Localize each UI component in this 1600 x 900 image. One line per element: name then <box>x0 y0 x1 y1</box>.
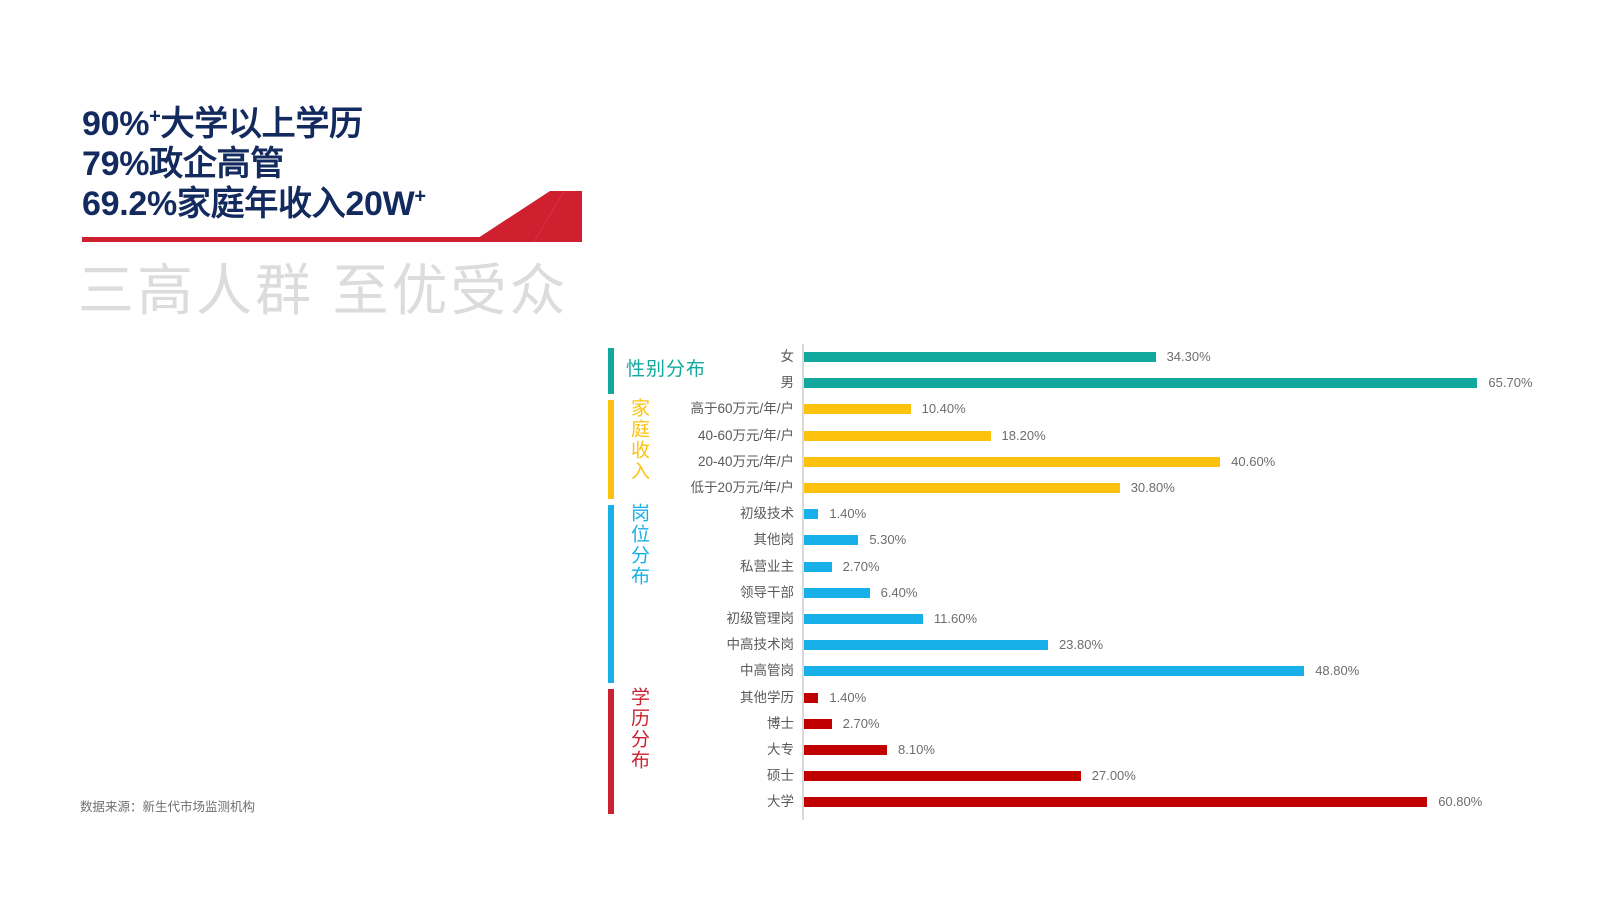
headline-line-2: 79%政企高管 <box>82 144 602 184</box>
demographics-bar-chart: 性别分布女34.30%男65.70%家庭收入高于60万元/年/户10.40%40… <box>608 344 1588 820</box>
row-category-label: 其他岗 <box>608 527 794 553</box>
row-value-label: 1.40% <box>829 501 866 527</box>
row-bar <box>804 457 1220 467</box>
row-value-label: 10.40% <box>922 396 966 422</box>
row-value-label: 23.80% <box>1059 632 1103 658</box>
chart-row: 初级管理岗11.60% <box>608 606 1588 632</box>
row-value-label: 6.40% <box>881 580 918 606</box>
row-bar <box>804 640 1048 650</box>
watermark-subtitle: 三高人群 至优受众 <box>78 256 569 326</box>
row-category-label: 领导干部 <box>608 580 794 606</box>
row-category-label: 初级管理岗 <box>608 606 794 632</box>
chart-row: 大专8.10% <box>608 737 1588 763</box>
row-category-label: 大学 <box>608 789 794 815</box>
row-value-label: 2.70% <box>843 711 880 737</box>
row-category-label: 硕士 <box>608 763 794 789</box>
row-category-label: 中高技术岗 <box>608 632 794 658</box>
headline-1-main: 90% <box>82 105 149 143</box>
row-category-label: 博士 <box>608 711 794 737</box>
headline-1-tail: 大学以上学历 <box>161 105 363 143</box>
row-bar <box>804 588 870 598</box>
chart-row: 女34.30% <box>608 344 1588 370</box>
row-bar <box>804 535 858 545</box>
row-value-label: 11.60% <box>934 606 977 632</box>
row-value-label: 40.60% <box>1231 449 1275 475</box>
row-bar <box>804 745 887 755</box>
chart-row: 私营业主2.70% <box>608 554 1588 580</box>
row-category-label: 其他学历 <box>608 685 794 711</box>
row-value-label: 60.80% <box>1438 789 1482 815</box>
data-source-note: 数据来源：新生代市场监测机构 <box>80 796 255 815</box>
row-value-label: 34.30% <box>1167 344 1211 370</box>
red-flag-shape <box>472 191 582 242</box>
chart-row: 博士2.70% <box>608 711 1588 737</box>
row-value-label: 27.00% <box>1092 763 1136 789</box>
row-value-label: 48.80% <box>1315 658 1359 684</box>
chart-row: 低于20万元/年/户30.80% <box>608 475 1588 501</box>
row-category-label: 20-40万元/年/户 <box>608 449 794 475</box>
row-bar <box>804 771 1081 781</box>
row-category-label: 高于60万元/年/户 <box>608 396 794 422</box>
headline-1-sup: + <box>149 106 160 128</box>
row-value-label: 65.70% <box>1488 370 1532 396</box>
chart-row: 中高管岗48.80% <box>608 658 1588 684</box>
chart-row: 大学60.80% <box>608 789 1588 815</box>
headline-3-tail: 家庭年收入20W <box>177 185 415 223</box>
row-bar <box>804 404 911 414</box>
row-bar <box>804 483 1120 493</box>
row-value-label: 18.20% <box>1002 423 1046 449</box>
row-bar <box>804 693 818 703</box>
headline-2-main: 79% <box>82 145 149 183</box>
chart-row: 中高技术岗23.80% <box>608 632 1588 658</box>
row-category-label: 女 <box>608 344 794 370</box>
row-category-label: 私营业主 <box>608 554 794 580</box>
chart-row: 其他岗5.30% <box>608 527 1588 553</box>
row-category-label: 40-60万元/年/户 <box>608 423 794 449</box>
chart-row: 男65.70% <box>608 370 1588 396</box>
chart-row: 20-40万元/年/户40.60% <box>608 449 1588 475</box>
row-bar <box>804 509 818 519</box>
headline-underline-group <box>82 228 582 254</box>
row-category-label: 大专 <box>608 737 794 763</box>
row-category-label: 男 <box>608 370 794 396</box>
row-bar <box>804 614 923 624</box>
row-value-label: 5.30% <box>869 527 906 553</box>
headline-line-1: 90%+大学以上学历 <box>82 104 602 144</box>
row-bar <box>804 431 991 441</box>
chart-row: 硕士27.00% <box>608 763 1588 789</box>
row-bar <box>804 719 832 729</box>
row-value-label: 30.80% <box>1131 475 1175 501</box>
headline-3-main: 69.2% <box>82 185 177 223</box>
row-bar <box>804 666 1304 676</box>
headline-3-sup: + <box>414 186 425 208</box>
row-bar <box>804 352 1156 362</box>
row-bar <box>804 562 832 572</box>
row-value-label: 1.40% <box>829 685 866 711</box>
row-bar <box>804 378 1477 388</box>
row-value-label: 8.10% <box>898 737 935 763</box>
headline-2-tail: 政企高管 <box>149 145 284 183</box>
chart-row: 其他学历1.40% <box>608 685 1588 711</box>
chart-row: 高于60万元/年/户10.40% <box>608 396 1588 422</box>
row-bar <box>804 797 1427 807</box>
row-value-label: 2.70% <box>843 554 880 580</box>
row-category-label: 中高管岗 <box>608 658 794 684</box>
row-category-label: 初级技术 <box>608 501 794 527</box>
chart-row: 领导干部6.40% <box>608 580 1588 606</box>
headline-underline <box>82 237 512 242</box>
row-category-label: 低于20万元/年/户 <box>608 475 794 501</box>
chart-row: 初级技术1.40% <box>608 501 1588 527</box>
chart-row: 40-60万元/年/户18.20% <box>608 423 1588 449</box>
